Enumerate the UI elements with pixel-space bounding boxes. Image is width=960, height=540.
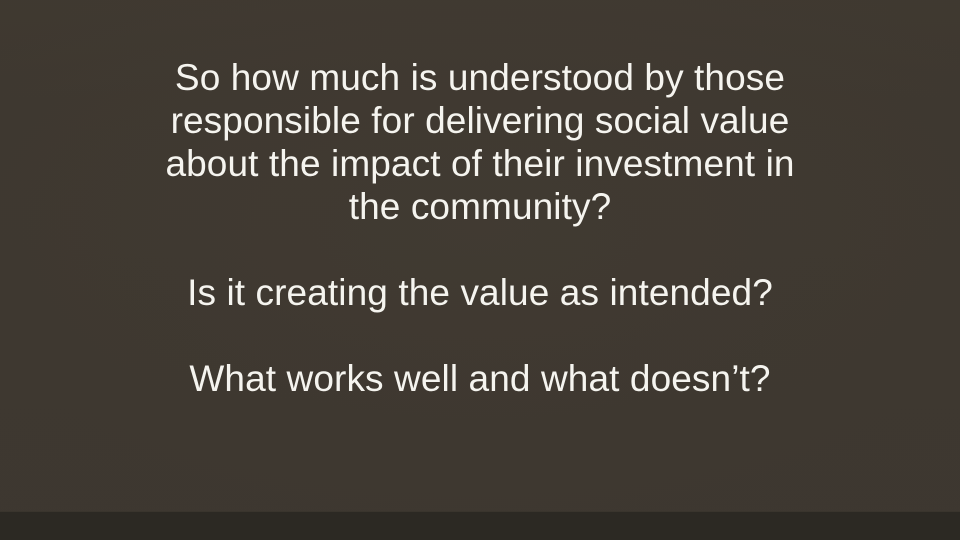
paragraph-spacer-1	[88, 228, 872, 271]
paragraph-what-works-question: What works well and what doesn’t?	[88, 357, 872, 400]
presentation-slide: So how much is understood by those respo…	[0, 0, 960, 540]
slide-footer-band	[0, 511, 960, 540]
paragraph-spacer-2	[88, 314, 872, 357]
paragraph-understanding-question: So how much is understood by those respo…	[160, 56, 800, 228]
slide-text-block: So how much is understood by those respo…	[88, 56, 872, 400]
paragraph-intended-value-question: Is it creating the value as intended?	[88, 271, 872, 314]
slide-content-area: So how much is understood by those respo…	[0, 0, 960, 511]
